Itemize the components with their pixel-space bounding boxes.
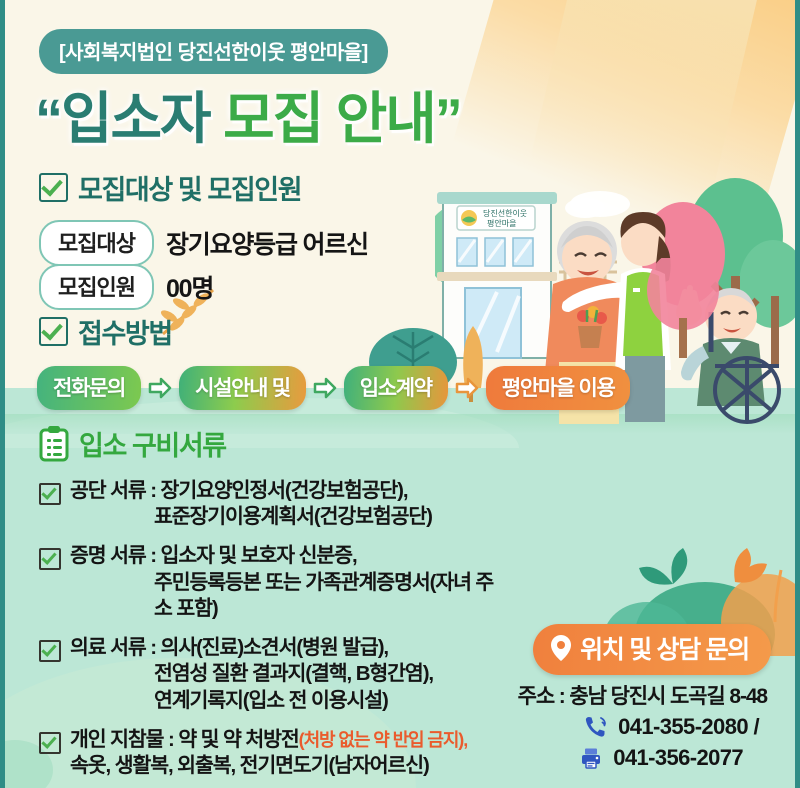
recruit-count-value: 00명: [166, 269, 213, 305]
apply-heading-label: 접수방법: [78, 312, 172, 351]
document-line-2: 표준장기이용계획서(건강보험공단): [70, 504, 432, 530]
arrow-right-icon: [455, 377, 479, 399]
building-sign-line2: 평안마을: [487, 218, 516, 228]
recruit-heading: 모집대상 및 모집인원: [39, 168, 301, 207]
recruit-row-target: 모집대상 장기요양등급 어르신: [39, 220, 368, 266]
recruit-target-label: 모집대상: [39, 220, 154, 266]
organization-badge: [사회복지법인 당진선한이웃 평안마을]: [39, 29, 388, 74]
contact-fax-number: 041-356-2077: [613, 745, 743, 771]
documents-heading: 입소 구비서류: [39, 424, 226, 463]
document-item: 증명 서류 : 입소자 및 보호자 신분증, 주민등록등본 또는 가족관계증명서…: [39, 543, 509, 622]
recruit-target-value: 장기요양등급 어르신: [166, 225, 368, 261]
fax-icon: [579, 746, 603, 770]
document-line-1: 증명 서류 : 입소자 및 보호자 신분증,: [70, 544, 357, 567]
document-item: 의료 서류 : 의사(진료)소견서(병원 발급), 전염성 질환 결과지(결핵,…: [39, 635, 509, 714]
arrow-right-icon: [313, 377, 337, 399]
check-icon: [39, 317, 68, 346]
document-line-2: 주민등록등본 또는 가족관계증명서(자녀 주소 포함): [70, 570, 509, 622]
flow-step-4: 평안마을 이용: [486, 366, 631, 410]
flow-step-1: 전화문의: [37, 366, 141, 410]
flow-step-2: 시설안내 및: [179, 366, 306, 410]
documents-list: 공단 서류 : 장기요양인정서(건강보험공단), 표준장기이용계획서(건강보험공…: [39, 478, 509, 788]
building-sign-line1: 당진선한이웃: [483, 208, 527, 218]
document-warning-note: (처방 없는 약 반입 금지),: [299, 730, 467, 750]
recruit-row-count: 모집인원 00명: [39, 264, 213, 310]
document-item-text: 공단 서류 : 장기요양인정서(건강보험공단), 표준장기이용계획서(건강보험공…: [70, 478, 432, 530]
document-line-1: 의료 서류 : 의사(진료)소견서(병원 발급),: [70, 636, 388, 659]
apply-heading: 접수방법: [39, 312, 172, 351]
recruit-count-label: 모집인원: [39, 264, 154, 310]
contact-phone-number: 041-355-2080 /: [618, 714, 759, 740]
check-icon: [39, 483, 61, 505]
document-line-3: 연계기록지(입소 전 이용시설): [70, 688, 433, 714]
recruit-heading-label: 모집대상 및 모집인원: [78, 168, 301, 207]
phone-icon: [584, 715, 608, 739]
document-item: 공단 서류 : 장기요양인정서(건강보험공단), 표준장기이용계획서(건강보험공…: [39, 478, 509, 530]
document-line-1: 공단 서류 : 장기요양인정서(건강보험공단),: [70, 479, 407, 502]
contact-phone-row: 041-355-2080 /: [584, 714, 759, 740]
title-part-1: “입소자: [35, 87, 223, 150]
application-flow: 전화문의 시설안내 및 입소계약 평안마을 이용: [37, 366, 630, 410]
check-icon: [39, 640, 61, 662]
check-icon: [39, 732, 61, 754]
check-icon: [39, 173, 68, 202]
document-item: 개인 지참물 : 약 및 약 처방전(처방 없는 약 반입 금지), 속옷, 생…: [39, 727, 509, 779]
contact-address: 주소 : 충남 당진시 도곡길 8-48: [518, 680, 767, 710]
document-line-2: 속옷, 생활복, 외출복, 전기면도기(남자어르신): [70, 753, 467, 779]
document-item-text: 의료 서류 : 의사(진료)소견서(병원 발급), 전염성 질환 결과지(결핵,…: [70, 635, 433, 714]
contact-badge-label: 위치 및 상담 문의: [580, 630, 749, 666]
check-icon: [39, 548, 61, 570]
document-item-text: 개인 지참물 : 약 및 약 처방전(처방 없는 약 반입 금지), 속옷, 생…: [70, 727, 467, 779]
page-title: “입소자 모집 안내”: [35, 74, 461, 155]
location-pin-icon: [551, 635, 571, 661]
flow-step-3: 입소계약: [344, 366, 448, 410]
document-line-2: 전염성 질환 결과지(결핵, B형간염),: [70, 661, 433, 687]
tree-decoration-right: [641, 258, 781, 358]
clipboard-icon: [39, 426, 69, 462]
document-item-text: 증명 서류 : 입소자 및 보호자 신분증, 주민등록등본 또는 가족관계증명서…: [70, 543, 509, 622]
poster-root: 당진선한이웃 평안마을: [0, 0, 800, 788]
contact-fax-row: 041-356-2077: [579, 745, 743, 771]
documents-heading-label: 입소 구비서류: [79, 424, 226, 463]
title-part-2: 모집 안내”: [223, 87, 461, 150]
document-line-1: 개인 지참물 : 약 및 약 처방전: [70, 728, 299, 751]
contact-badge: 위치 및 상담 문의: [533, 624, 771, 675]
arrow-right-icon: [148, 377, 172, 399]
